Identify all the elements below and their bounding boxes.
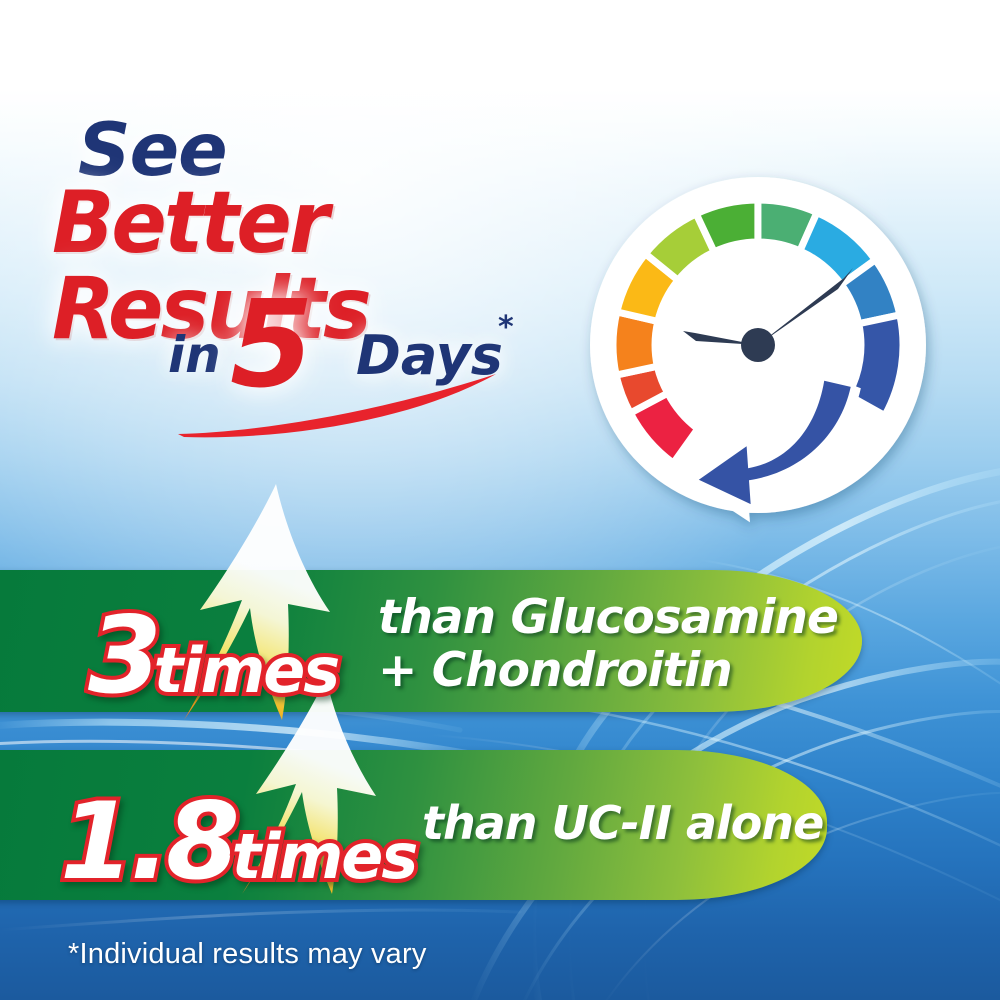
claim-banner-2: 1.8times than UC-II alone xyxy=(0,750,827,900)
claim-2-comparison: than UC-II alone xyxy=(422,798,823,850)
claim-2-number: 1.8 xyxy=(60,780,236,903)
red-swoosh-underline xyxy=(170,368,500,438)
disclaimer-footnote: *Individual results may vary xyxy=(68,938,427,971)
claim-1-times-label: times xyxy=(154,634,338,707)
claim-2-times-label: times xyxy=(232,820,416,893)
claim-1-metric: 3times xyxy=(88,594,338,717)
claim-2-metric: 1.8times xyxy=(60,780,416,903)
promo-canvas: See Better Results in 5 Days * xyxy=(0,0,1000,1000)
claim-1-number: 3 xyxy=(88,594,158,717)
headline-block: See Better Results in 5 Days * xyxy=(0,96,620,456)
performance-gauge xyxy=(560,130,960,550)
claim-banner-1: 3times than Glucosamine + Chondroitin xyxy=(0,570,862,712)
headline-asterisk: * xyxy=(498,310,514,345)
claim-1-comparison: than Glucosamine + Chondroitin xyxy=(378,592,838,697)
